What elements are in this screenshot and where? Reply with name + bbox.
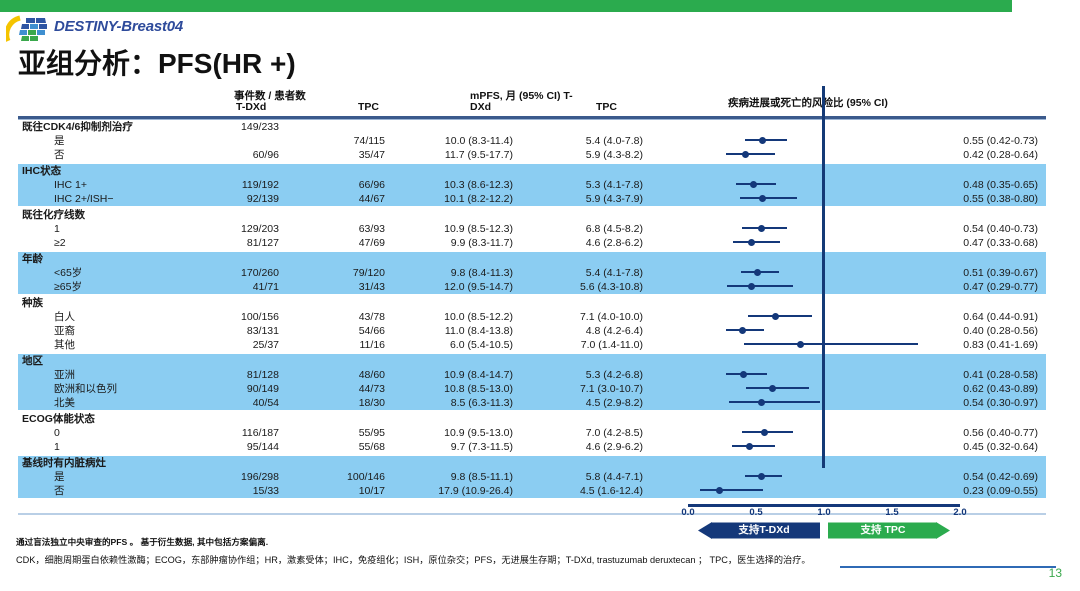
mpfs-tpc: 4.6 (2.9-6.2)	[538, 440, 643, 454]
mpfs-tpc: 6.8 (4.5-8.2)	[538, 222, 643, 236]
subgroup-name: 基线时有内脏病灶	[22, 456, 106, 470]
confidence-interval-line	[748, 315, 812, 317]
point-estimate-marker	[772, 313, 779, 320]
row-label: 其他	[54, 338, 75, 352]
events-tpc: 55/95	[303, 426, 385, 440]
events-tdxd: 81/127	[183, 236, 279, 250]
point-estimate-marker	[750, 181, 757, 188]
subgroup-header-tdxd: 149/233	[183, 120, 279, 134]
events-tpc: 79/120	[303, 266, 385, 280]
mpfs-tdxd: 10.8 (8.5-13.0)	[408, 382, 513, 396]
mpfs-tdxd: 10.9 (9.5-13.0)	[408, 426, 513, 440]
point-estimate-marker	[758, 399, 765, 406]
point-estimate-marker	[759, 137, 766, 144]
events-tpc: 11/16	[303, 338, 385, 352]
events-tpc: 54/66	[303, 324, 385, 338]
study-name: DESTINY-Breast04	[54, 18, 183, 35]
events-tdxd: 116/187	[183, 426, 279, 440]
events-tdxd: 95/144	[183, 440, 279, 454]
events-tdxd: 92/139	[183, 192, 279, 206]
events-tpc: 63/93	[303, 222, 385, 236]
footnote-abbreviations: CDK，细胞周期蛋白依赖性激酶；ECOG，东部肿瘤协作组；HR，激素受体；IHC…	[16, 552, 811, 566]
mpfs-tpc: 5.4 (4.0-7.8)	[538, 134, 643, 148]
favors-tpc-arrow: 支持 TPC	[828, 522, 950, 539]
confidence-interval-line	[726, 153, 775, 155]
mpfs-tdxd: 10.0 (8.3-11.4)	[408, 134, 513, 148]
axis-tick-0-0: 0.0	[681, 507, 694, 518]
row-label: ≥65岁	[54, 280, 82, 294]
row-label: 1	[54, 222, 60, 236]
point-estimate-marker	[748, 283, 755, 290]
row-label: 亚裔	[54, 324, 75, 338]
events-tpc: 44/67	[303, 192, 385, 206]
row-label: 是	[54, 134, 65, 148]
row-label: ≥2	[54, 236, 66, 250]
events-tpc: 74/115	[303, 134, 385, 148]
mpfs-tdxd: 12.0 (9.5-14.7)	[408, 280, 513, 294]
mpfs-tpc: 4.8 (4.2-6.4)	[538, 324, 643, 338]
header-mpfs-tpc: TPC	[596, 101, 617, 113]
mpfs-tpc: 5.9 (4.3-7.9)	[538, 192, 643, 206]
events-tpc: 31/43	[303, 280, 385, 294]
mpfs-tpc: 4.5 (2.9-8.2)	[538, 396, 643, 410]
favors-tdxd-label: 支持T-DXd	[698, 522, 820, 539]
subgroup-name: ECOG体能状态	[22, 412, 95, 426]
events-tpc: 55/68	[303, 440, 385, 454]
point-estimate-marker	[748, 239, 755, 246]
mpfs-tdxd: 11.7 (9.5-17.7)	[408, 148, 513, 162]
row-label: 亚洲	[54, 368, 75, 382]
mpfs-tdxd: 10.0 (8.5-12.2)	[408, 310, 513, 324]
favors-tdxd-arrow: 支持T-DXd	[698, 522, 820, 539]
point-estimate-marker	[739, 327, 746, 334]
confidence-interval-line	[740, 197, 797, 199]
row-label: 白人	[54, 310, 75, 324]
point-estimate-marker	[716, 487, 723, 494]
mpfs-tdxd: 9.8 (8.5-11.1)	[408, 470, 513, 484]
footnote-primary: 通过盲法独立中央审查的PFS 。 基于衍生数据, 其中包括方案偏离.	[16, 536, 268, 548]
favors-tpc-label: 支持 TPC	[828, 522, 950, 539]
confidence-interval-line	[745, 139, 787, 141]
events-tdxd: 41/71	[183, 280, 279, 294]
mpfs-tpc: 5.4 (4.1-7.8)	[538, 266, 643, 280]
point-estimate-marker	[797, 341, 804, 348]
mpfs-tpc: 7.0 (4.2-8.5)	[538, 426, 643, 440]
row-label: 否	[54, 484, 65, 498]
mpfs-tdxd: 10.9 (8.4-14.7)	[408, 368, 513, 382]
point-estimate-marker	[746, 443, 753, 450]
row-label: 是	[54, 470, 65, 484]
confidence-interval-line	[727, 285, 792, 287]
events-tdxd: 119/192	[183, 178, 279, 192]
mpfs-tpc: 5.3 (4.1-7.8)	[538, 178, 643, 192]
axis-tick-labels: 0.00.51.01.52.0	[670, 507, 960, 521]
events-tdxd: 100/156	[183, 310, 279, 324]
mpfs-tpc: 5.3 (4.2-6.8)	[538, 368, 643, 382]
point-estimate-marker	[758, 225, 765, 232]
point-estimate-marker	[769, 385, 776, 392]
row-label: IHC 1+	[54, 178, 87, 192]
events-tdxd: 40/54	[183, 396, 279, 410]
events-tpc: 48/60	[303, 368, 385, 382]
row-label: 否	[54, 148, 65, 162]
events-tpc: 43/78	[303, 310, 385, 324]
events-tdxd: 60/96	[183, 148, 279, 162]
events-tpc: 47/69	[303, 236, 385, 250]
mpfs-tdxd: 9.9 (8.3-11.7)	[408, 236, 513, 250]
mpfs-tdxd: 9.8 (8.4-11.3)	[408, 266, 513, 280]
mpfs-tdxd: 6.0 (5.4-10.5)	[408, 338, 513, 352]
axis-tick-2-0: 2.0	[953, 507, 966, 518]
point-estimate-marker	[742, 151, 749, 158]
axis-tick-1-5: 1.5	[885, 507, 898, 518]
axis-tick-0-5: 0.5	[749, 507, 762, 518]
subgroup-name: 种族	[22, 296, 43, 310]
events-tdxd: 129/203	[183, 222, 279, 236]
axis-tick-1-0: 1.0	[817, 507, 830, 518]
mpfs-tdxd: 10.1 (8.2-12.2)	[408, 192, 513, 206]
confidence-interval-line	[700, 489, 763, 491]
point-estimate-marker	[754, 269, 761, 276]
events-tdxd: 170/260	[183, 266, 279, 280]
subgroup-name: 地区	[22, 354, 43, 368]
page-number: 13	[1049, 566, 1062, 580]
events-tpc: 44/73	[303, 382, 385, 396]
row-label: 1	[54, 440, 60, 454]
events-tpc: 100/146	[303, 470, 385, 484]
mpfs-tpc: 5.6 (4.3-10.8)	[538, 280, 643, 294]
row-label: IHC 2+/ISH−	[54, 192, 114, 206]
mpfs-tdxd: 17.9 (10.9-26.4)	[408, 484, 513, 498]
events-tpc: 10/17	[303, 484, 385, 498]
mpfs-tpc: 7.0 (1.4-11.0)	[538, 338, 643, 352]
header-events-tdxd: T-DXd	[236, 101, 266, 113]
mpfs-tpc: 7.1 (3.0-10.7)	[538, 382, 643, 396]
mpfs-tpc: 7.1 (4.0-10.0)	[538, 310, 643, 324]
row-label: <65岁	[54, 266, 82, 280]
events-tpc: 66/96	[303, 178, 385, 192]
reference-line	[822, 86, 825, 468]
events-tdxd: 81/128	[183, 368, 279, 382]
events-tdxd: 83/131	[183, 324, 279, 338]
events-tdxd: 196/298	[183, 470, 279, 484]
mpfs-tpc: 4.5 (1.6-12.4)	[538, 484, 643, 498]
events-tpc: 18/30	[303, 396, 385, 410]
header-mpfs-tdxd: DXd	[470, 101, 491, 113]
subgroup-forest-table: 事件数 / 患者数 T-DXd TPC mPFS, 月 (95% CI) T- …	[18, 86, 1064, 526]
mpfs-tdxd: 11.0 (8.4-13.8)	[408, 324, 513, 338]
confidence-interval-line	[729, 401, 820, 403]
top-green-bar	[0, 0, 1012, 12]
confidence-interval-line	[733, 241, 781, 243]
confidence-interval-line	[732, 445, 776, 447]
point-estimate-marker	[759, 195, 766, 202]
subgroup-name: 年龄	[22, 252, 43, 266]
mpfs-tpc: 5.8 (4.4-7.1)	[538, 470, 643, 484]
mpfs-tdxd: 10.9 (8.5-12.3)	[408, 222, 513, 236]
header-events-tpc: TPC	[358, 101, 379, 113]
subgroup-name: 既往CDK4/6抑制剂治疗	[22, 120, 133, 134]
events-tdxd: 15/33	[183, 484, 279, 498]
row-label: 欧洲和以色列	[54, 382, 117, 396]
row-label: 北美	[54, 396, 75, 410]
events-tdxd: 90/149	[183, 382, 279, 396]
forest-plot: 0.00.51.01.52.0 支持T-DXd 支持 TPC	[670, 86, 960, 513]
confidence-interval-line	[746, 387, 809, 389]
mpfs-tpc: 5.9 (4.3-8.2)	[538, 148, 643, 162]
row-label: 0	[54, 426, 60, 440]
destiny-breast-logo	[6, 14, 52, 42]
subgroup-name: 既往化疗线数	[22, 208, 85, 222]
page-title: 亚组分析：PFS(HR +)	[18, 42, 296, 82]
point-estimate-marker	[740, 371, 747, 378]
events-tdxd: 25/37	[183, 338, 279, 352]
point-estimate-marker	[758, 473, 765, 480]
point-estimate-marker	[761, 429, 768, 436]
subgroup-name: IHC状态	[22, 164, 61, 178]
footnote-underline	[840, 566, 1056, 568]
mpfs-tpc: 4.6 (2.8-6.2)	[538, 236, 643, 250]
mpfs-tdxd: 10.3 (8.6-12.3)	[408, 178, 513, 192]
mpfs-tdxd: 9.7 (7.3-11.5)	[408, 440, 513, 454]
events-tpc: 35/47	[303, 148, 385, 162]
mpfs-tdxd: 8.5 (6.3-11.3)	[408, 396, 513, 410]
confidence-interval-line	[744, 343, 918, 345]
